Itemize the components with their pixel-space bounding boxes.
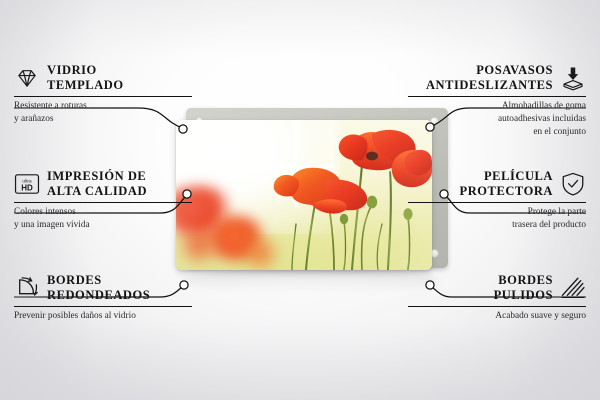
feature-desc: Almohadillas de goma autoadhesivas inclu… [408,100,586,140]
feature-title: POSAVASOSANTIDESLIZANTES [426,63,553,93]
product-reflection [182,268,440,294]
printed-glass-panel [176,120,432,270]
feature-desc: Prevenir posibles daños al vidrio [14,310,192,323]
feature-rule [408,202,586,203]
feature-desc: Protege la parte trasera del producto [408,206,586,232]
feature-impresion-alta-calidad: ultra HD IMPRESIÓN DEALTA CALIDAD Colore… [14,168,192,232]
feature-pelicula-protectora: PELÍCULAPROTECTORA Protege la parte tras… [408,168,586,232]
feature-title: BORDESREDONDEADOS [47,273,150,303]
ultra-hd-icon: ultra HD [14,171,40,197]
feature-rule [14,306,192,307]
poppy-bud-3 [340,214,348,224]
feature-rule [408,96,586,97]
product-mockup [176,112,438,270]
poppy-blossoms [176,120,432,270]
feature-title: BORDESPULIDOS [494,273,553,303]
poppy-photo [176,120,432,270]
diamond-icon [14,65,40,91]
feature-desc: Resistente a roturas y arañazos [14,100,192,126]
feature-rule [14,96,192,97]
feature-vidrio-templado: VIDRIOTEMPLADO Resistente a roturas y ar… [14,62,192,126]
rounded-corner-icon [14,275,40,301]
poppy-blossom-center [274,168,368,214]
poppy-bud-1 [367,196,377,209]
hatched-edge-icon [560,275,586,301]
feature-bordes-redondeados: BORDESREDONDEADOS Prevenir posibles daño… [14,272,192,323]
feature-rule [408,306,586,307]
feature-title: VIDRIOTEMPLADO [47,63,124,93]
feature-rule [14,202,192,203]
feature-title: PELÍCULAPROTECTORA [460,169,553,199]
feature-desc: Acabado suave y seguro [408,310,586,323]
shield-check-icon [560,171,586,197]
feature-posavasos-antideslizantes: POSAVASOSANTIDESLIZANTES Almohadillas de… [408,62,586,140]
anti-slip-pad-icon [560,65,586,91]
feature-desc: Colores intensos y una imagen vívida [14,206,192,232]
feature-title: IMPRESIÓN DEALTA CALIDAD [47,169,147,199]
svg-text:HD: HD [21,184,33,193]
infographic-canvas: VIDRIOTEMPLADO Resistente a roturas y ar… [0,0,600,400]
feature-bordes-pulidos: BORDESPULIDOS Acabado suave y seguro [408,272,586,323]
